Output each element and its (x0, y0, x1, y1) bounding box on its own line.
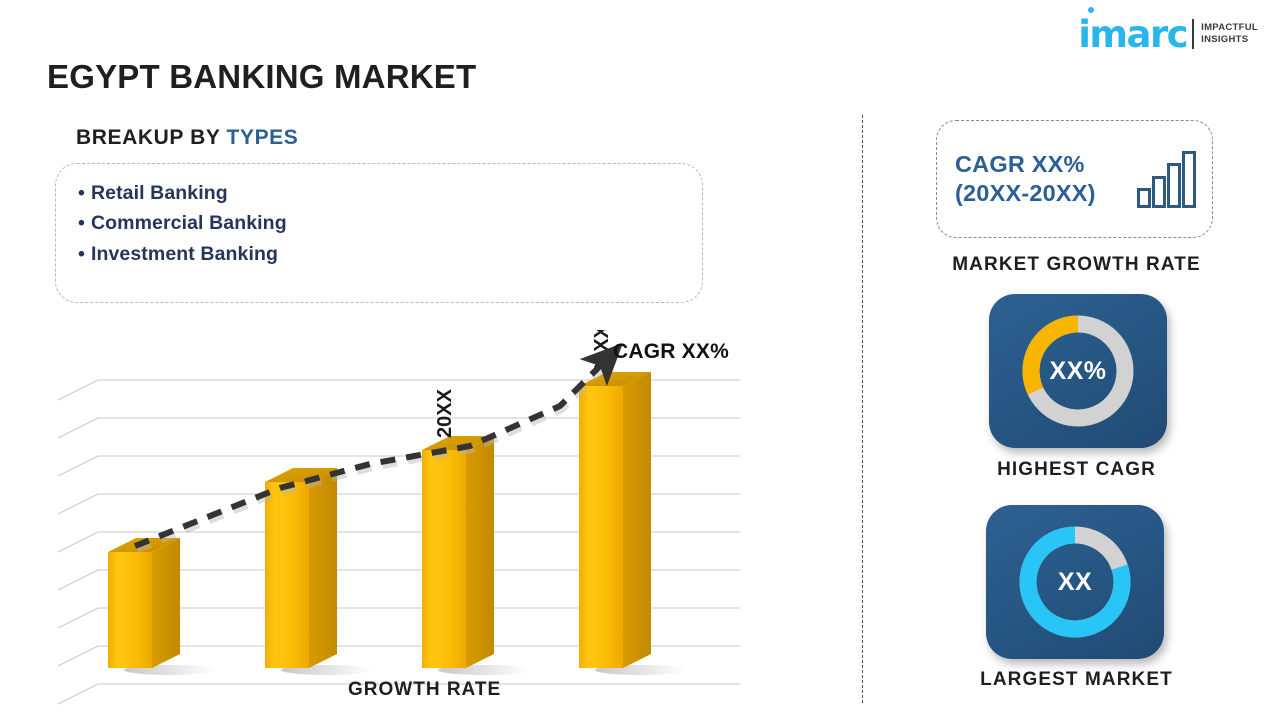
largest-market-label: LARGEST MARKET (880, 669, 1273, 691)
breakup-heading: BREAKUP BY TYPES (76, 126, 298, 150)
list-item: •Investment Banking (78, 239, 702, 269)
chart-trend-line (135, 360, 606, 546)
chart-bar-3: 20XX (422, 388, 494, 668)
chart-svg: 20XX 20XX (40, 330, 800, 720)
page-title: EGYPT BANKING MARKET (47, 58, 476, 96)
imarc-logo: imarc IMPACTFUL INSIGHTS (1078, 14, 1258, 54)
list-item: •Retail Banking (78, 178, 702, 208)
bullet-icon: • (78, 182, 85, 204)
logo-wordmark: imarc (1078, 16, 1187, 53)
cagr-value-line: CAGR XX% (955, 150, 1132, 179)
chart-trend-line-shadow (137, 358, 614, 550)
highest-cagr-card: XX% (989, 294, 1167, 448)
section-divider (862, 115, 863, 703)
chart-bar-2 (265, 468, 337, 668)
bullet-icon: • (78, 212, 85, 234)
list-item-label: Investment Banking (91, 243, 278, 265)
highest-cagr-label: HIGHEST CAGR (880, 459, 1273, 481)
largest-market-card: XX (986, 505, 1164, 659)
logo-tagline-line1: IMPACTFUL (1201, 22, 1258, 34)
chart-bar-1 (108, 538, 180, 668)
largest-market-value: XX (986, 505, 1164, 659)
chart-bar-3-label: 20XX (434, 388, 456, 438)
highest-cagr-value: XX% (989, 294, 1167, 448)
breakup-types-box: •Retail Banking •Commercial Banking •Inv… (55, 163, 703, 303)
logo-divider (1192, 19, 1194, 49)
bar-chart-icon (1136, 149, 1198, 209)
logo-tagline: IMPACTFUL INSIGHTS (1201, 22, 1258, 45)
breakup-heading-prefix: BREAKUP BY (76, 126, 227, 149)
growth-rate-chart: 20XX 20XX (40, 330, 800, 720)
breakup-types-list: •Retail Banking •Commercial Banking •Inv… (56, 164, 702, 269)
chart-cagr-callout: CAGR XX% (613, 340, 729, 364)
market-growth-rate-label: MARKET GROWTH RATE (880, 254, 1273, 276)
list-item-label: Commercial Banking (91, 212, 287, 234)
market-growth-rate-box: CAGR XX% (20XX-20XX) (936, 120, 1213, 238)
bullet-icon: • (78, 243, 85, 265)
market-growth-rate-text: CAGR XX% (20XX-20XX) (955, 150, 1132, 207)
chart-bar-4: 20XX (579, 330, 651, 668)
breakup-heading-accent: TYPES (227, 126, 299, 149)
logo-tagline-line2: INSIGHTS (1201, 34, 1258, 46)
list-item-label: Retail Banking (91, 182, 228, 204)
chart-x-axis-label: GROWTH RATE (348, 679, 501, 701)
infographic-slide: imarc IMPACTFUL INSIGHTS EGYPT BANKING M… (0, 0, 1280, 720)
cagr-period-line: (20XX-20XX) (955, 179, 1132, 208)
list-item: •Commercial Banking (78, 208, 702, 238)
